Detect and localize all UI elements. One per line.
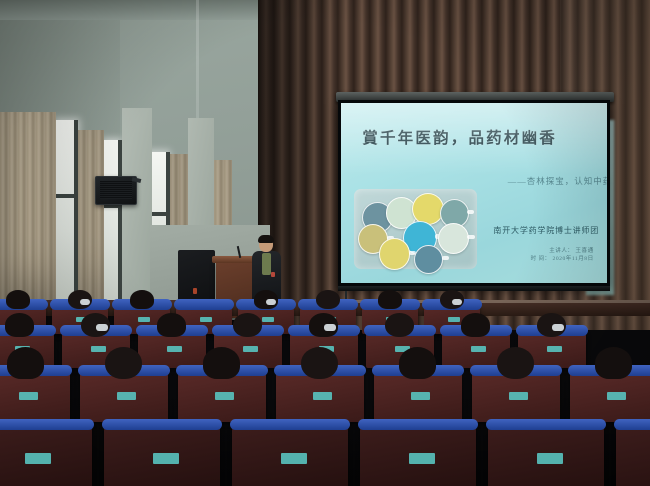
presenter-hair [258,235,274,243]
screen-glare [341,103,607,175]
audience-member [233,313,262,337]
slide-meta-block: 主讲人： 王喜通 时 间： 2020年11月8日 [530,247,593,264]
curtain [78,130,104,306]
seat-number-tag [262,317,274,322]
face-mask [96,324,108,331]
audience-member [440,290,464,309]
audience-member [309,313,338,337]
seat-number-tag [138,317,150,322]
face-mask [552,324,564,331]
seat-number-tag [91,346,106,352]
slide-tray-image [354,189,476,268]
audience-member [537,313,566,337]
presenter-badge [271,272,275,277]
equipment-indicator-icon [193,288,197,294]
seat-number-tag [243,346,258,352]
slide-cup [414,245,443,274]
face-mask [452,299,462,305]
audience-head [233,313,262,337]
audience-head [130,290,154,309]
slide-cup [438,223,469,254]
audience-member [6,290,30,309]
seat-number-tag [19,392,38,400]
audience-head [301,347,338,379]
audience-head [105,347,142,379]
audience-member [105,347,142,379]
audience-member [203,347,240,379]
audience-member [461,313,490,337]
audience-member [378,290,402,309]
projection-screen: 賞千年医韵，品药材幽香 ——杏林探宝，认知中药 南开大学药学院博士讲师团 主讲人… [338,100,610,286]
seat-number-tag [167,346,182,352]
audience-member [385,313,414,337]
audience-head [316,290,340,309]
window-transom [56,194,80,198]
audience-member [68,290,92,309]
audience-head [385,313,414,337]
wall-pier [122,108,152,303]
audience-head [5,313,34,337]
seat-number-tag [25,453,51,464]
seat-number-tag [281,453,307,464]
slide-organization: 南开大学药学院博士讲师团 [493,225,599,236]
audience-head [203,347,240,379]
audience-head [399,347,436,379]
seat-number-tag [547,346,562,352]
face-mask [266,299,276,305]
audience-head [497,347,534,379]
audience-member [301,347,338,379]
audience-head [157,313,186,337]
audience-member [254,290,278,309]
lecture-hall-photo: 賞千年医韵，品药材幽香 ——杏林探宝，认知中药 南开大学药学院博士讲师团 主讲人… [0,0,650,486]
audience-member [130,290,154,309]
audience-seating [0,296,650,486]
seat-number-tag [409,453,435,464]
audience-head [378,290,402,309]
audience-head [7,347,44,379]
seat-number-tag [200,317,212,322]
slide-surface: 賞千年医韵，品药材幽香 ——杏林探宝，认知中药 南开大学药学院博士讲师团 主讲人… [341,103,607,283]
audience-member [399,347,436,379]
seat-number-tag [509,392,528,400]
seat-number-tag [537,453,563,464]
audience-head [461,313,490,337]
face-mask [80,299,90,305]
presenter-shirt [262,253,271,275]
seat-number-tag [313,392,332,400]
audience-member [5,313,34,337]
audience-member [497,347,534,379]
audience-member [316,290,340,309]
seat-number-tag [411,392,430,400]
face-mask [324,324,336,331]
audience-head [6,290,30,309]
curtain [0,112,56,310]
seat-number-tag [153,453,179,464]
seat-number-tag [215,392,234,400]
slide-cup [379,238,410,269]
seat-number-tag [448,317,460,322]
audience-member [7,347,44,379]
audience-member [157,313,186,337]
slide-subtitle: ——杏林探宝，认知中药 [508,175,607,187]
slide-date-line: 时 间： 2020年11月8日 [530,255,593,263]
slide-speaker-line: 主讲人： 王喜通 [530,247,593,255]
auditorium-seat [616,424,650,486]
seat-number-tag [471,346,486,352]
audience-member [595,347,632,379]
audience-member [81,313,110,337]
audience-head [595,347,632,379]
seat-number-tag [607,392,626,400]
seat-number-tag [117,392,136,400]
